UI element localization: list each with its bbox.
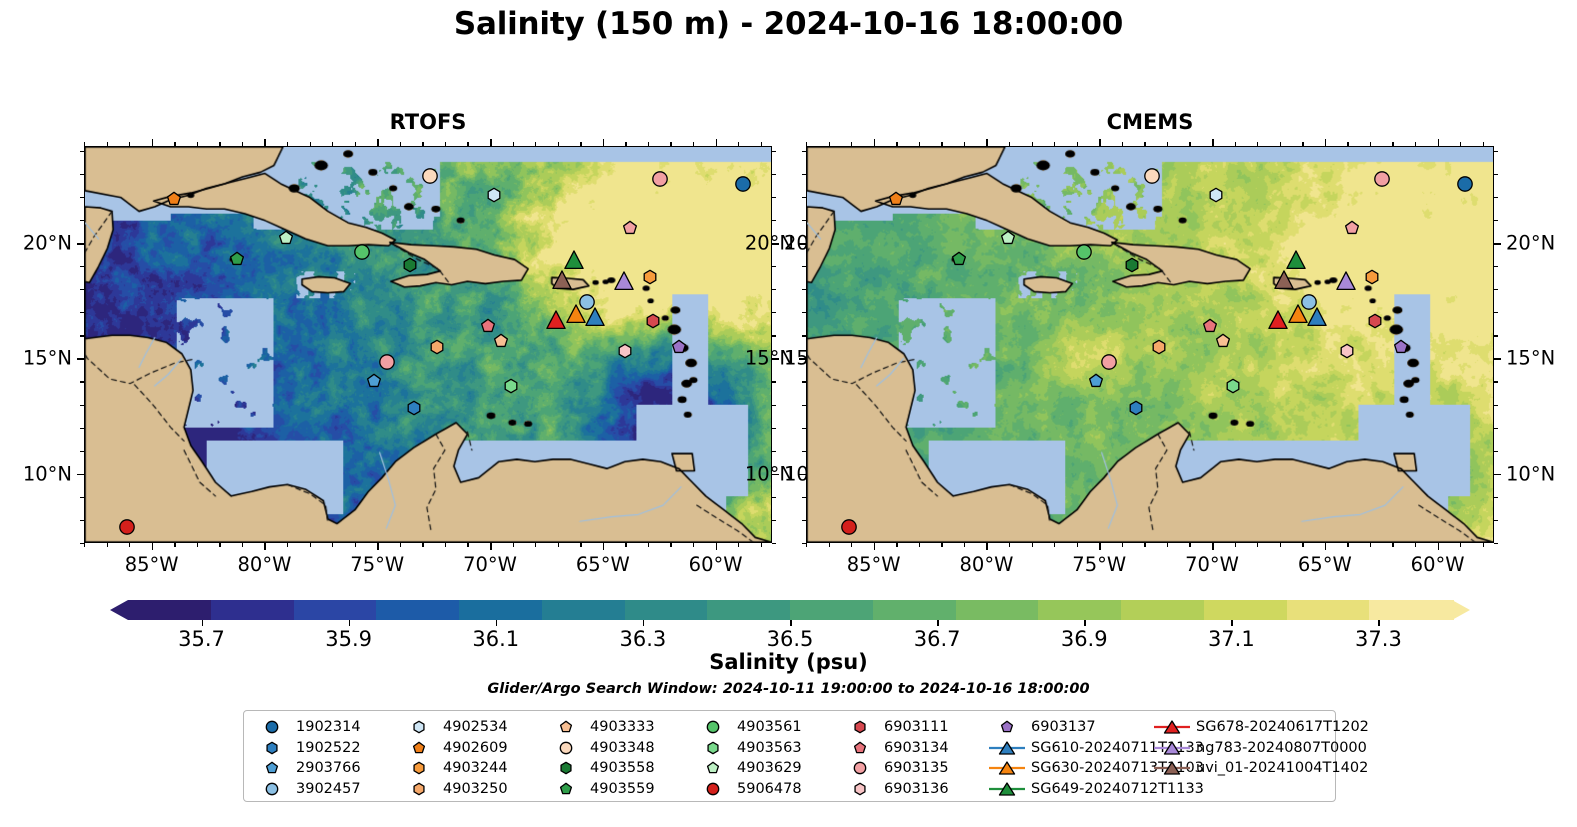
legend-marker-pentagon-icon [840,738,880,758]
legend-item[interactable]: 4903348 [546,738,696,759]
x-tick [919,543,920,547]
y-tick-right [1494,358,1501,360]
x-tick-label: 80°W [960,553,1014,576]
map-marker-SG649[interactable] [1286,250,1306,270]
map-marker-4903348[interactable] [1144,168,1160,184]
y-tick [802,151,806,152]
map-marker-ng783[interactable] [614,271,634,291]
map-marker-SG630[interactable] [566,304,586,324]
map-marker-4903629[interactable] [278,231,293,246]
legend-label: 6903134 [880,740,949,756]
colorbar-tick-label: 36.7 [914,627,961,651]
colorbar-tick-label: 37.3 [1355,627,1402,651]
colorbar-segment [1287,600,1371,620]
x-tick [1077,543,1078,547]
legend-marker-circle-icon [546,738,586,758]
legend-label: 4903629 [733,760,802,776]
x-tick-top [287,142,288,146]
y-tick-right [772,335,776,336]
colorbar-tick [790,620,792,626]
y-tick [802,335,806,336]
legend-item[interactable]: 6903134 [840,738,990,759]
y-tick [802,312,806,313]
legend-marker-hexagon-icon [399,779,439,799]
y-tick [80,335,84,336]
x-tick [829,543,830,547]
colorbar-segment [294,600,378,620]
y-tick-right [1494,428,1498,429]
x-tick-top [761,142,762,146]
y-tick [802,497,806,498]
colorbar-gradient [128,600,1452,620]
y-tick [799,358,806,360]
y-tick-label-left: 15°N [745,347,794,370]
map-marker-4902609[interactable] [167,191,182,206]
colorbar-tick-label: 36.3 [619,627,666,651]
legend-marker-pentagon-icon [252,758,292,778]
x-tick-top [580,142,581,146]
y-tick [80,520,84,521]
x-tick-top [107,142,108,146]
map-marker-4903559[interactable] [230,251,245,266]
map-marker-4902609[interactable] [889,191,904,206]
x-tick-label: 60°W [689,553,743,576]
y-tick-right [1494,289,1498,290]
x-tick-top [197,142,198,146]
x-tick-label: 80°W [238,553,292,576]
y-tick [802,197,806,198]
map-marker-ng783[interactable] [1336,271,1356,291]
y-tick-label-right: 10°N [1506,462,1555,485]
map-marker-1902314[interactable] [1457,176,1473,192]
y-tick-label-left: 20°N [23,231,72,254]
x-tick-top [422,142,423,146]
legend-marker-pentagon-icon [399,738,439,758]
legend[interactable]: 1902314190252229037663902457490253449026… [243,710,1336,802]
x-tick-top [1077,142,1078,146]
x-tick [332,543,333,547]
legend-item[interactable]: 3902457 [252,779,402,800]
colorbar-tick [1378,620,1380,626]
map-marker-4903333[interactable] [494,333,509,348]
y-tick [77,243,84,245]
search-window-text: Glider/Argo Search Window: 2024-10-11 19… [0,681,1577,697]
x-tick-label: 70°W [463,553,517,576]
legend-item[interactable]: 4903563 [693,738,843,759]
colorbar-segment [873,600,957,620]
x-tick-top [535,142,536,146]
x-tick-top [874,139,876,146]
colorbar-segment [376,600,460,620]
x-tick [513,543,514,547]
map-marker-6903135[interactable] [1374,171,1390,187]
x-tick-top [445,142,446,146]
y-tick-label-left: 15°N [23,347,72,370]
legend-column: SG678-20240617T1202 ng783-20240807T0000 … [1152,717,1337,779]
legend-marker-pentagon-icon [546,779,586,799]
y-tick [802,289,806,290]
map-marker-4903561[interactable] [1076,244,1092,260]
legend-column: 4903561490356349036295906478 [693,717,843,799]
legend-label: 4903348 [586,740,655,756]
colorbar-label: Salinity (psu) [0,650,1577,674]
x-tick [648,543,649,547]
legend-item[interactable]: 4903629 [693,758,843,779]
legend-item[interactable]: 2903766 [252,758,402,779]
legend-label: 6903111 [880,719,949,735]
x-tick [1392,543,1393,547]
y-tick-right [772,151,776,152]
legend-label: 2903766 [292,760,361,776]
x-tick [806,543,807,547]
legend-marker-triangle-icon [1152,758,1192,778]
legend-label: 6903136 [880,781,949,797]
x-tick-top [558,142,559,146]
x-tick [467,543,468,547]
map-marker-5906478[interactable] [841,519,857,535]
x-tick-top [84,142,85,146]
legend-label: SG678-20240617T1202 [1192,719,1369,735]
map-marker-6903136[interactable] [1340,344,1355,359]
y-tick-right [772,289,776,290]
x-tick [84,543,85,547]
y-tick-right [1494,266,1498,267]
x-tick [1460,543,1461,547]
legend-label: 1902522 [292,740,361,756]
colorbar-segment [1204,600,1288,620]
legend-item[interactable]: 5906478 [693,779,843,800]
legend-item[interactable]: 4903244 [399,758,549,779]
legend-label: 4903561 [733,719,802,735]
y-tick-right [1494,335,1498,336]
y-tick [80,312,84,313]
x-tick-top [603,139,605,146]
map-marker-4903629[interactable] [1000,231,1015,246]
map-marker-6903134b[interactable] [480,318,495,333]
legend-column: 4902534490260949032444903250 [399,717,549,799]
map-marker-6903135[interactable] [652,171,668,187]
map-frame-rtofs[interactable] [84,146,772,543]
y-tick [80,451,84,452]
legend-marker-pentagon-icon [546,717,586,737]
x-tick [1438,543,1440,550]
legend-item[interactable]: SG649-20240712T1133 [987,779,1192,800]
map-marker-4902534[interactable] [1209,188,1224,203]
y-tick-right [772,543,776,544]
panel-title-rtofs: RTOFS [84,110,772,134]
map-marker-4903558[interactable] [1124,257,1139,272]
x-tick-top [332,142,333,146]
map-marker-4903250[interactable] [429,339,444,354]
x-tick-label: 65°W [1298,553,1352,576]
map-marker-SG649[interactable] [564,250,584,270]
x-tick [219,543,220,547]
map-marker-SG610[interactable] [585,307,605,327]
x-tick-top [1370,142,1371,146]
colorbar-extend-min-icon [110,600,128,620]
x-tick [174,543,175,547]
map-panel-rtofs[interactable]: RTOFS 85°W80°W75°W70°W65°W60°W10°N10°N15… [84,146,772,543]
x-tick-top [1122,142,1123,146]
x-tick [670,543,671,547]
legend-item[interactable]: 6903111 [840,717,990,738]
map-marker-uvi_01[interactable] [552,270,572,290]
map-marker-1902314[interactable] [735,176,751,192]
legend-column: 6903111690313469031356903136 [840,717,990,799]
y-tick-right [1494,543,1498,544]
map-marker-4903561[interactable] [354,244,370,260]
x-tick [1122,543,1123,547]
y-tick-right [1494,151,1498,152]
legend-label: uvi_01-20241004T1402 [1192,760,1368,776]
legend-column: 1902314190252229037663902457 [252,717,402,799]
x-tick-top [219,142,220,146]
colorbar-tick [1084,620,1086,626]
map-marker-5906478[interactable] [119,519,135,535]
x-tick [129,543,130,547]
map-marker-6903137[interactable] [672,339,687,354]
y-tick-right [1494,174,1498,175]
y-tick [77,474,84,476]
x-tick-top [152,139,154,146]
legend-label: 4903563 [733,740,802,756]
map-marker-1902522[interactable] [1129,400,1144,415]
legend-item[interactable]: 4903558 [546,758,696,779]
y-tick [802,520,806,521]
map-marker-6903111[interactable] [646,314,661,329]
x-tick-top [670,142,671,146]
y-tick-right [772,451,776,452]
colorbar-segment [956,600,1040,620]
legend-item[interactable]: 6903136 [840,779,990,800]
legend-label: 5906478 [733,781,802,797]
x-tick-label: 75°W [1072,553,1126,576]
legend-item[interactable]: 4903559 [546,779,696,800]
legend-item[interactable]: 6903135 [840,758,990,779]
x-tick-label: 65°W [576,553,630,576]
legend-marker-circle-icon [252,779,292,799]
x-tick-top [174,142,175,146]
x-tick [1347,543,1348,547]
y-tick [80,543,84,544]
legend-item[interactable]: 4902609 [399,738,549,759]
legend-label: 4902609 [439,740,508,756]
map-marker-2903766[interactable] [366,374,381,389]
y-tick-right [772,497,776,498]
map-marker-SG610[interactable] [1307,307,1327,327]
x-tick-top [738,142,739,146]
legend-marker-triangle-icon [987,738,1027,758]
legend-item[interactable]: 4903561 [693,717,843,738]
colorbar-tick [643,620,645,626]
legend-label: 4903333 [586,719,655,735]
legend-item[interactable]: 1902314 [252,717,402,738]
y-tick-label-right: 15°N [1506,347,1555,370]
x-tick-top [693,142,694,146]
x-tick-top [648,142,649,146]
map-marker-4903250[interactable] [1151,339,1166,354]
map-marker-uvi_01[interactable] [1274,270,1294,290]
x-tick-top [310,142,311,146]
map-marker-4903559[interactable] [952,251,967,266]
x-tick-top [1009,142,1010,146]
map-marker-4903135b[interactable] [379,354,395,370]
x-tick [941,543,942,547]
legend-column: 4903333490334849035584903559 [546,717,696,799]
x-tick [761,543,762,547]
y-tick [799,474,806,476]
x-tick [310,543,311,547]
colorbar-segment [1369,600,1453,620]
x-tick [1302,543,1303,547]
y-tick-right [1494,243,1501,245]
x-tick-top [1189,142,1190,146]
x-tick [1483,543,1484,547]
legend-item[interactable]: ng783-20240807T0000 [1152,738,1337,759]
x-tick-top [1099,139,1101,146]
colorbar-tick-label: 35.9 [325,627,372,651]
legend-marker-hexagon-icon [693,738,733,758]
y-tick [80,428,84,429]
colorbar-extend-max-icon [1452,600,1470,620]
x-tick-top [1415,142,1416,146]
x-tick-top [806,142,807,146]
x-tick-top [964,142,965,146]
x-tick-top [264,139,266,146]
map-marker-6903111[interactable] [1368,314,1383,329]
legend-marker-circle-icon [840,758,880,778]
map-marker-SG678[interactable] [1268,310,1288,330]
map-marker-SG678[interactable] [546,310,566,330]
x-tick-top [513,142,514,146]
map-marker-4903244[interactable] [643,270,658,285]
y-tick [802,220,806,221]
x-tick-top [355,142,356,146]
map-marker-6903134[interactable] [1344,220,1359,235]
map-marker-6903134b[interactable] [1202,318,1217,333]
map-marker-6903134[interactable] [622,220,637,235]
y-tick [802,381,806,382]
x-tick [1235,543,1236,547]
x-tick [1009,543,1010,547]
panel-title-cmems: CMEMS [806,110,1494,134]
map-marker-4903333[interactable] [1216,333,1231,348]
map-marker-2903766[interactable] [1088,374,1103,389]
legend-item[interactable]: 4903250 [399,779,549,800]
x-tick-top [1483,142,1484,146]
x-tick [422,543,423,547]
legend-item[interactable]: 1902522 [252,738,402,759]
y-tick-right [1494,312,1498,313]
legend-marker-triangle-icon [1152,717,1192,737]
x-tick-top [1392,142,1393,146]
x-tick-top [625,142,626,146]
x-tick [355,543,356,547]
x-tick [1212,543,1214,550]
y-tick-right [1494,497,1498,498]
map-marker-4903558[interactable] [402,257,417,272]
colorbar-tick-label: 37.1 [1208,627,1255,651]
y-tick-label-left: 10°N [745,462,794,485]
x-tick [264,543,266,550]
y-tick [80,381,84,382]
legend-marker-triangle-icon [1152,738,1192,758]
colorbar-tick [349,620,351,626]
y-tick-right [772,220,776,221]
x-tick [693,543,694,547]
x-tick-top [1235,142,1236,146]
y-tick-right [772,381,776,382]
x-tick-top [1032,142,1033,146]
map-marker-4902534[interactable] [487,188,502,203]
map-marker-4903563[interactable] [504,378,519,393]
legend-marker-hexagon-icon [840,717,880,737]
x-tick [580,543,581,547]
x-tick-top [467,142,468,146]
x-tick [1370,543,1371,547]
map-marker-4903135b[interactable] [1101,354,1117,370]
map-marker-6903136[interactable] [618,344,633,359]
colorbar: 35.735.936.136.336.536.736.937.137.3 [110,598,1470,622]
map-panel-cmems[interactable]: CMEMS 85°W80°W75°W70°W65°W60°W10°N10°N15… [806,146,1494,543]
legend-item[interactable]: 4903333 [546,717,696,738]
colorbar-segment [128,600,212,620]
map-marker-1902522[interactable] [407,400,422,415]
x-tick [445,543,446,547]
map-marker-SG630[interactable] [1288,304,1308,324]
legend-label: SG649-20240712T1133 [1027,781,1204,797]
x-tick [400,543,401,547]
map-frame-cmems[interactable] [806,146,1494,543]
y-tick-right [1494,197,1498,198]
x-tick [1144,543,1145,547]
legend-item[interactable]: uvi_01-20241004T1402 [1152,758,1337,779]
y-tick [802,174,806,175]
legend-marker-triangle-icon [987,779,1027,799]
map-marker-6903137[interactable] [1394,339,1409,354]
legend-marker-circle-icon [693,717,733,737]
y-tick [80,197,84,198]
map-marker-4903244[interactable] [1365,270,1380,285]
y-tick-right [772,312,776,313]
y-tick [80,220,84,221]
legend-item[interactable]: 4902534 [399,717,549,738]
map-marker-4903348[interactable] [422,168,438,184]
legend-label: 1902314 [292,719,361,735]
y-tick-right [772,520,776,521]
legend-label: 3902457 [292,781,361,797]
x-tick-label: 85°W [125,553,179,576]
x-tick [964,543,965,547]
y-tick [802,543,806,544]
x-tick-top [1257,142,1258,146]
x-tick [1032,543,1033,547]
legend-marker-hexagon-icon [399,717,439,737]
legend-item[interactable]: SG678-20240617T1202 [1152,717,1337,738]
x-tick-top [1302,142,1303,146]
y-tick [802,451,806,452]
colorbar-segment [625,600,709,620]
x-tick [716,543,718,550]
legend-label: 6903137 [1027,719,1096,735]
y-tick-right [1494,405,1498,406]
x-tick-label: 70°W [1185,553,1239,576]
map-marker-4903563[interactable] [1226,378,1241,393]
x-tick-top [1347,142,1348,146]
legend-label: ng783-20240807T0000 [1192,740,1367,756]
x-tick-top [400,142,401,146]
x-tick [377,543,379,550]
